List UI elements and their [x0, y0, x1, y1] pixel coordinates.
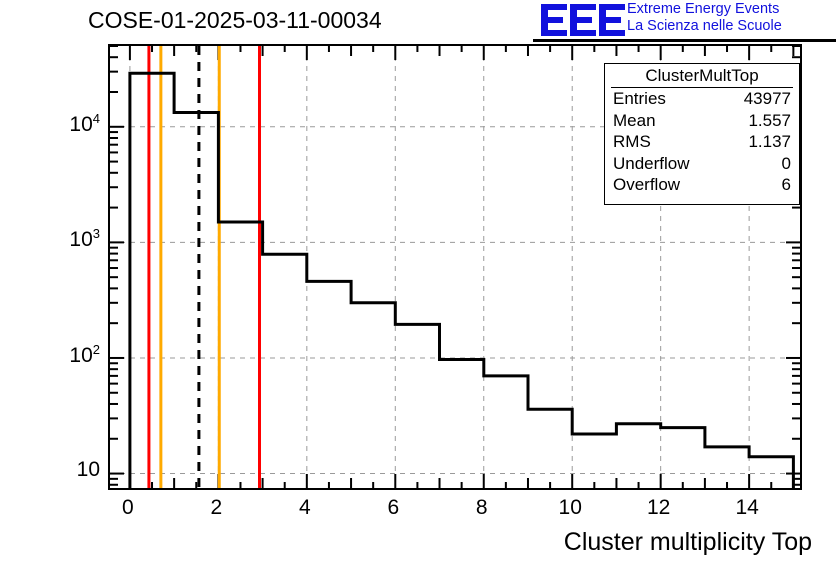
x-tick-label: 10 — [550, 496, 590, 520]
stats-row-value: 1.557 — [748, 110, 791, 132]
stats-rows: Entries43977Mean1.557RMS1.137Underflow0O… — [605, 88, 799, 196]
stats-title: ClusterMultTop — [611, 64, 793, 88]
stats-row-value: 6 — [782, 174, 791, 196]
stats-row: Mean1.557 — [605, 110, 799, 132]
eee-logo-mark — [541, 4, 625, 38]
stats-box[interactable]: ClusterMultTop Entries43977Mean1.557RMS1… — [604, 63, 800, 205]
x-tick-label: 12 — [639, 496, 679, 520]
stats-row-label: Underflow — [613, 153, 690, 175]
y-tick-label: 103 — [69, 226, 100, 252]
stats-row: RMS1.137 — [605, 131, 799, 153]
eee-logo-line1: Extreme Energy Events — [627, 1, 782, 18]
stats-row-value: 43977 — [744, 88, 791, 110]
stats-row: Overflow6 — [605, 174, 799, 196]
eee-logo-text: Extreme Energy Events La Scienza nelle S… — [627, 1, 782, 35]
stats-row-value: 1.137 — [748, 131, 791, 153]
x-tick-label: 8 — [462, 496, 502, 520]
x-tick-label: 6 — [373, 496, 413, 520]
stats-row-label: Entries — [613, 88, 666, 110]
stats-row-value: 0 — [782, 153, 791, 175]
x-tick-label: 4 — [285, 496, 325, 520]
stats-row: Underflow0 — [605, 153, 799, 175]
stats-row-label: Overflow — [613, 174, 680, 196]
x-tick-label: 14 — [727, 496, 767, 520]
root-canvas: COSE-01-2025-03-11-00034 Extreme Energy … — [0, 0, 836, 572]
y-tick-label: 102 — [69, 342, 100, 368]
y-tick-label: 10 — [77, 458, 100, 482]
x-tick-label: 2 — [196, 496, 236, 520]
stats-row-label: RMS — [613, 131, 651, 153]
eee-logo: Extreme Energy Events La Scienza nelle S… — [541, 2, 834, 38]
x-tick-label: 0 — [108, 496, 148, 520]
header-divider — [533, 39, 836, 42]
page-title: COSE-01-2025-03-11-00034 — [88, 7, 382, 34]
x-axis-title: Cluster multiplicity Top — [564, 528, 812, 557]
stats-row-label: Mean — [613, 110, 656, 132]
eee-logo-line2: La Scienza nelle Scuole — [627, 18, 782, 35]
stats-row: Entries43977 — [605, 88, 799, 110]
y-tick-label: 104 — [69, 111, 100, 137]
